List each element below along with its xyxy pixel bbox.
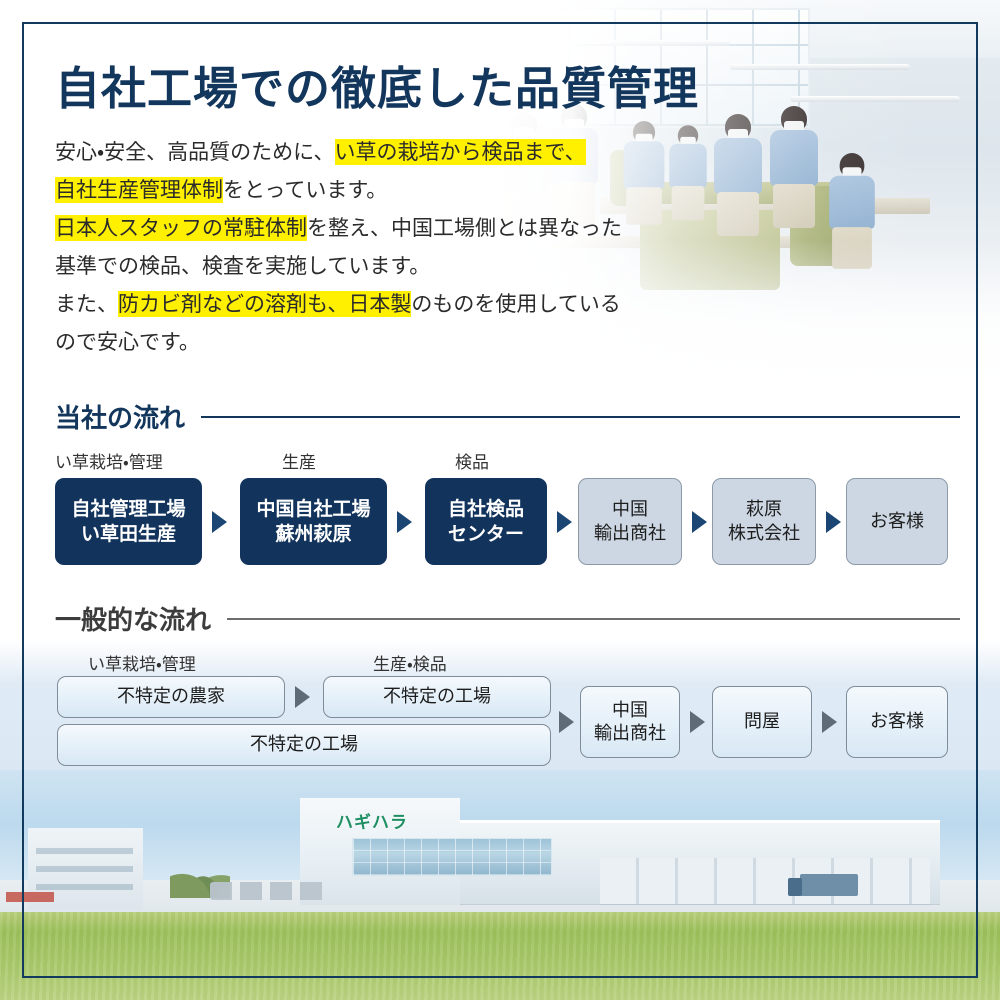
intro-highlight: 防カビ剤などの溶剤も、日本製 bbox=[118, 291, 411, 317]
intro-text: 基準での検品、検査を実施しています。 bbox=[55, 254, 430, 278]
intro-text: のものを使用している bbox=[411, 292, 620, 316]
own-flow-step-5-line1: お客様 bbox=[870, 510, 924, 533]
own-flow-step-1-line2: 蘇州萩原 bbox=[256, 522, 370, 546]
own-flow-step-3-line2: 輸出商社 bbox=[594, 522, 666, 545]
general-flow-row1-step-0-label: 不特定の農家 bbox=[117, 685, 225, 708]
general-flow-arrow-2 bbox=[690, 711, 705, 733]
intro-paragraph: 安心・安全、高品質のために、い草の栽培から検品まで、 自社生産管理体制をとってい… bbox=[55, 133, 695, 361]
general-flow-caption-1: 生産・検品 bbox=[373, 650, 447, 675]
general-flow-arrow-3 bbox=[822, 711, 837, 733]
own-flow-step-4-line1: 萩原 bbox=[728, 498, 800, 521]
own-flow-step-5[interactable]: お客様 bbox=[846, 478, 948, 565]
general-flow-tail-0[interactable]: 中国 輸出商社 bbox=[580, 686, 680, 758]
intro-text: を整え、中国工場側とは異なった bbox=[307, 216, 622, 240]
intro-line-2: 自社生産管理体制をとっています。 bbox=[55, 171, 695, 209]
own-flow-heading-label: 当社の流れ bbox=[55, 398, 185, 435]
own-flow-caption-0: い草栽培・管理 bbox=[55, 448, 163, 473]
infographic-page: ハギハラ 自社工場での徹底した品質管理 安心・安全、高品質のために、い草の栽培か… bbox=[0, 0, 1000, 1000]
general-flow-tail-1[interactable]: 問屋 bbox=[712, 686, 812, 758]
general-flow-row2-step[interactable]: 不特定の工場 bbox=[57, 724, 551, 766]
page-title: 自社工場での徹底した品質管理 bbox=[55, 52, 699, 117]
own-flow-arrow-2 bbox=[557, 511, 572, 533]
intro-text: また、 bbox=[55, 292, 118, 316]
own-flow-arrow-1 bbox=[397, 511, 412, 533]
intro-line-3: 日本人スタッフの常駐体制を整え、中国工場側とは異なった bbox=[55, 209, 695, 247]
own-flow-arrow-4 bbox=[826, 511, 841, 533]
general-flow-row2-label: 不特定の工場 bbox=[250, 733, 358, 756]
own-flow-step-1[interactable]: 中国自社工場 蘇州萩原 bbox=[240, 478, 387, 565]
general-flow-heading-label: 一般的な流れ bbox=[55, 600, 211, 637]
own-flow-caption-1: 生産 bbox=[282, 448, 316, 473]
own-flow-step-3-line1: 中国 bbox=[594, 498, 666, 521]
own-flow-step-2[interactable]: 自社検品 センター bbox=[425, 478, 547, 565]
intro-highlight: 自社生産管理体制 bbox=[55, 177, 223, 203]
intro-text: 安心・安全、高品質のために、 bbox=[55, 140, 335, 164]
own-flow-step-4[interactable]: 萩原 株式会社 bbox=[712, 478, 816, 565]
own-flow-step-0[interactable]: 自社管理工場 い草田生産 bbox=[55, 478, 202, 565]
general-flow-row1-step-1[interactable]: 不特定の工場 bbox=[323, 676, 551, 718]
own-flow-step-2-line1: 自社検品 bbox=[448, 497, 524, 521]
own-flow-step-0-line2: い草田生産 bbox=[71, 522, 185, 546]
general-flow-arrow-1 bbox=[559, 711, 574, 733]
general-flow-tail-1-line1: 問屋 bbox=[744, 710, 780, 733]
intro-highlight: い草の栽培から検品まで、 bbox=[335, 139, 586, 165]
own-flow-step-1-line1: 中国自社工場 bbox=[256, 497, 370, 521]
general-flow-heading: 一般的な流れ bbox=[55, 600, 960, 637]
general-flow-tail-0-line2: 輸出商社 bbox=[594, 722, 666, 745]
intro-text: ので安心です。 bbox=[55, 330, 200, 354]
general-flow-arrow-0 bbox=[295, 686, 310, 708]
own-flow-heading: 当社の流れ bbox=[55, 398, 960, 435]
general-flow-caption-0: い草栽培・管理 bbox=[88, 650, 196, 675]
own-flow-step-0-line1: 自社管理工場 bbox=[71, 497, 185, 521]
intro-line-6: ので安心です。 bbox=[55, 323, 695, 361]
general-flow-tail-2-line1: お客様 bbox=[870, 710, 924, 733]
own-flow-caption-2: 検品 bbox=[455, 448, 489, 473]
intro-line-5: また、防カビ剤などの溶剤も、日本製のものを使用している bbox=[55, 285, 695, 323]
intro-highlight: 日本人スタッフの常駐体制 bbox=[55, 215, 307, 241]
general-flow-tail-2[interactable]: お客様 bbox=[846, 686, 948, 758]
heading-rule bbox=[227, 618, 960, 620]
own-flow-arrow-0 bbox=[212, 511, 227, 533]
own-flow-arrow-3 bbox=[692, 511, 707, 533]
own-flow-step-2-line2: センター bbox=[448, 522, 524, 546]
intro-line-4: 基準での検品、検査を実施しています。 bbox=[55, 247, 695, 285]
own-flow-step-4-line2: 株式会社 bbox=[728, 522, 800, 545]
general-flow-row1-step-1-label: 不特定の工場 bbox=[383, 685, 491, 708]
intro-line-1: 安心・安全、高品質のために、い草の栽培から検品まで、 bbox=[55, 133, 695, 171]
intro-text: をとっています。 bbox=[223, 178, 387, 202]
heading-rule bbox=[201, 416, 960, 418]
own-flow-step-3[interactable]: 中国 輸出商社 bbox=[578, 478, 682, 565]
general-flow-tail-0-line1: 中国 bbox=[594, 699, 666, 722]
general-flow-row1-step-0[interactable]: 不特定の農家 bbox=[57, 676, 285, 718]
